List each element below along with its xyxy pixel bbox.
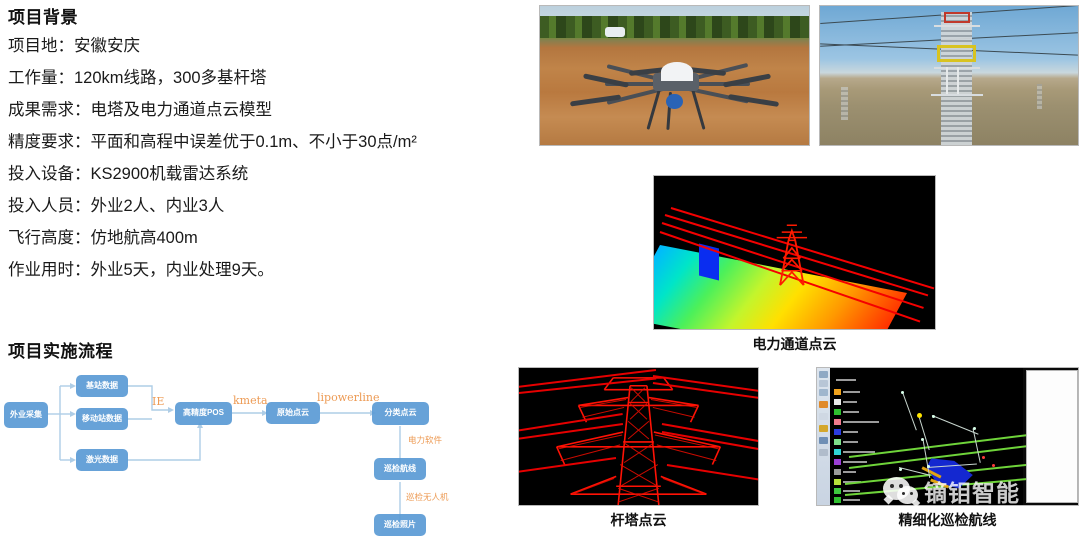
legend-item-label	[843, 461, 867, 463]
drone-propeller	[569, 94, 620, 106]
legend-item-label	[843, 391, 860, 393]
waypoint[interactable]	[932, 415, 935, 418]
legend-swatch	[834, 488, 841, 494]
project-background-list: 项目地：安徽安庆 工作量：120km线路，300多基杆塔 成果需求：电塔及电力通…	[8, 30, 528, 286]
tower-photo-scene	[820, 6, 1078, 145]
flow-node-label: 巡检航线	[384, 465, 416, 474]
flow-node-label: 巡检照片	[384, 521, 416, 530]
legend-swatch	[834, 409, 841, 415]
background-line: 投入设备：KS2900机载雷达系统	[8, 158, 528, 190]
flow-edge-label-power-software: 电力软件	[408, 434, 442, 446]
flow-node-collect[interactable]: 外业采集	[4, 402, 48, 428]
waypoint[interactable]	[973, 427, 976, 430]
legend-item-label	[843, 421, 879, 423]
software-3d-viewport[interactable]	[830, 368, 1023, 505]
tower-top-marker	[944, 12, 970, 23]
legend-item[interactable]	[834, 409, 859, 415]
flow-node-inspection-route[interactable]: 巡检航线	[374, 458, 426, 480]
classified-power-line	[849, 433, 1031, 457]
flow-edge-label-lipowerline: lipowerline	[317, 391, 380, 404]
legend-swatch	[834, 399, 841, 405]
legend-title-text	[836, 379, 856, 381]
right-column: 电力通道点云	[508, 0, 1080, 552]
flow-node-laser[interactable]: 激光数据	[76, 449, 128, 471]
distant-tower	[1037, 84, 1042, 109]
legend-swatch	[834, 389, 841, 395]
lidar-sensor	[666, 94, 682, 109]
flow-node-label: 分类点云	[385, 409, 417, 418]
transmission-tower-photo	[819, 5, 1079, 146]
legend-item[interactable]	[834, 439, 858, 445]
flow-edge-label-ie: IE	[152, 395, 164, 408]
flow-node-pos[interactable]: 高精度POS	[175, 402, 232, 425]
toolbar-icon[interactable]	[819, 425, 828, 432]
legend-swatch	[834, 439, 841, 445]
caption-power-corridor-cloud: 电力通道点云	[653, 334, 936, 354]
drone-field-photo	[539, 5, 810, 146]
legend-item[interactable]	[834, 429, 858, 435]
toolbar-icon[interactable]	[819, 371, 828, 378]
flight-path-segment	[932, 415, 979, 435]
waypoint[interactable]	[921, 438, 924, 441]
drone-gps-dome	[661, 62, 693, 81]
caption-tower-point-cloud: 杆塔点云	[518, 510, 759, 530]
background-line: 精度要求：平面和高程中误差优于0.1m、不小于30点/m²	[8, 126, 528, 158]
legend-swatch	[834, 459, 841, 465]
flow-node-classified-cloud[interactable]: 分类点云	[372, 402, 429, 425]
drone-photo-scene	[540, 6, 809, 145]
legend-item[interactable]	[834, 419, 879, 425]
background-line: 飞行高度：仿地航高400m	[8, 222, 528, 254]
legend-item[interactable]	[834, 389, 860, 395]
flow-node-label: 原始点云	[277, 409, 309, 418]
toolbar-icon[interactable]	[819, 389, 828, 396]
flight-path-segment	[903, 393, 917, 430]
flow-node-raw-cloud[interactable]: 原始点云	[266, 402, 320, 424]
flow-node-label: 移动站数据	[82, 415, 122, 424]
toolbar-icon[interactable]	[819, 449, 828, 456]
legend-item-label	[843, 499, 860, 501]
background-line: 投入人员：外业2人、内业3人	[8, 190, 528, 222]
caption-inspection-route: 精细化巡检航线	[816, 510, 1079, 530]
flow-edge-label-kmeta: kmeta	[233, 394, 268, 407]
left-column: 项目背景 项目地：安徽安庆 工作量：120km线路，300多基杆塔 成果需求：电…	[0, 0, 530, 552]
background-line: 作业用时：外业5天，内业处理9天。	[8, 254, 528, 286]
legend-swatch	[834, 419, 841, 425]
drone-landing-leg	[691, 89, 705, 130]
tree-line	[540, 16, 809, 38]
flow-node-inspection-photo[interactable]: 巡检照片	[374, 514, 426, 536]
flow-edge-label-inspection-uav: 巡检无人机	[406, 491, 449, 503]
workflow-heading: 项目实施流程	[8, 337, 113, 362]
background-line: 成果需求：电塔及电力通道点云模型	[8, 94, 528, 126]
software-side-panel[interactable]	[1026, 370, 1078, 503]
drone-propeller	[728, 94, 779, 107]
legend-swatch	[834, 449, 841, 455]
legend-swatch	[834, 429, 841, 435]
white-car	[605, 27, 625, 37]
legend-item[interactable]	[834, 497, 860, 503]
slide-page: 项目背景 项目地：安徽安庆 工作量：120km线路，300多基杆塔 成果需求：电…	[0, 0, 1080, 552]
power-corridor-point-cloud	[653, 175, 936, 330]
flow-node-label: 外业采集	[10, 411, 42, 420]
flow-node-label: 高精度POS	[183, 409, 224, 418]
legend-item-label	[843, 411, 859, 413]
tower-point-cloud	[518, 367, 759, 506]
waypoint-alert[interactable]	[982, 456, 985, 459]
point-cloud-tower	[775, 217, 809, 286]
tower-crossarm	[931, 94, 983, 96]
flow-node-label: 基站数据	[86, 382, 118, 391]
legend-item[interactable]	[834, 399, 857, 405]
legend-item-label	[843, 401, 857, 403]
waypoint-selected[interactable]	[917, 413, 922, 418]
legend-swatch	[834, 469, 841, 475]
background-line: 工作量：120km线路，300多基杆塔	[8, 62, 528, 94]
legend-item-label	[843, 431, 858, 433]
toolbar-icon[interactable]	[819, 380, 828, 387]
tower-yellow-frame	[937, 45, 976, 62]
legend-title	[834, 379, 856, 381]
project-background-heading: 项目背景	[8, 3, 78, 28]
toolbar-icon[interactable]	[819, 413, 828, 420]
inspection-route-software	[816, 367, 1079, 506]
drone-landing-leg	[647, 89, 661, 130]
insulator-string	[957, 67, 959, 93]
legend-item[interactable]	[834, 469, 856, 475]
legend-swatch	[834, 479, 841, 485]
background-line: 项目地：安徽安庆	[8, 30, 528, 62]
insulator-string	[946, 67, 948, 93]
flow-node-label: 激光数据	[86, 456, 118, 465]
legend-item-label	[843, 471, 856, 473]
distant-tower	[841, 87, 849, 120]
toolbar-icon[interactable]	[819, 437, 828, 444]
toolbar-icon[interactable]	[819, 401, 828, 408]
flow-node-rover[interactable]: 移动站数据	[76, 408, 128, 430]
software-toolbar[interactable]	[817, 368, 830, 505]
tower-crossarm	[934, 25, 980, 27]
waypoint-alert[interactable]	[992, 464, 995, 467]
legend-item-label	[843, 490, 860, 492]
flow-node-base[interactable]: 基站数据	[76, 375, 128, 397]
legend-item[interactable]	[834, 459, 867, 465]
legend-swatch	[834, 497, 841, 503]
workflow-diagram: 外业采集 基站数据 移动站数据 激光数据 高精度POS 原始点云 分类点云 巡检…	[0, 372, 460, 552]
legend-item-label	[843, 441, 858, 443]
waypoint[interactable]	[927, 465, 930, 468]
